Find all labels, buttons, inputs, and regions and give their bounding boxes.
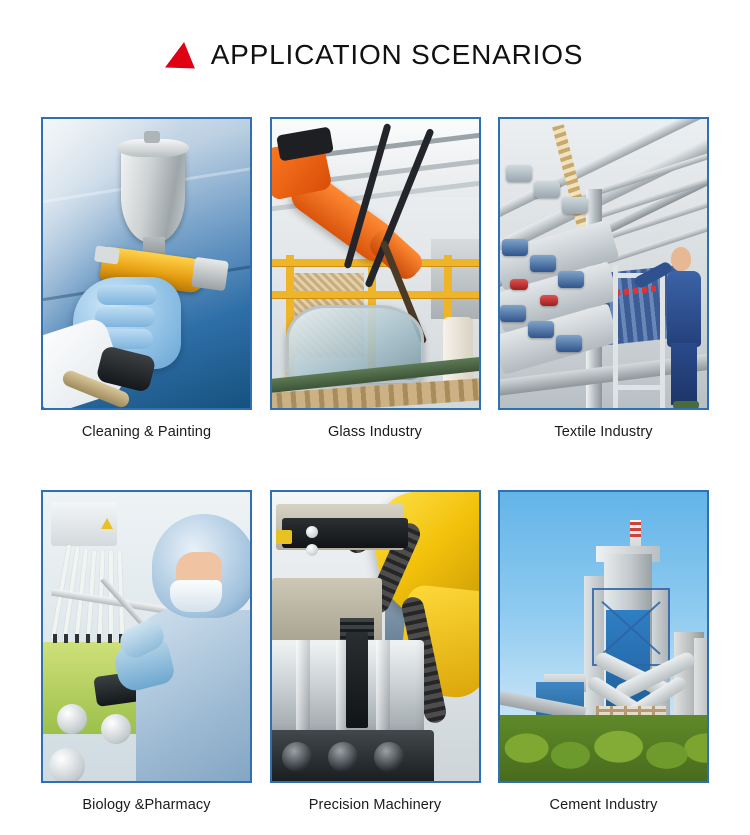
scenario-card-biology-pharmacy[interactable]: Biology &Pharmacy [41, 490, 252, 814]
scenario-caption: Glass Industry [270, 423, 481, 441]
orange-robot-arm-windshield-image [272, 119, 479, 408]
application-scenarios-page: APPLICATION SCENARIOS [0, 0, 750, 835]
scenario-caption: Precision Machinery [270, 796, 481, 814]
red-triangle-icon [165, 41, 199, 68]
scenario-thumbnail[interactable] [270, 117, 481, 410]
scenario-caption: Cement Industry [498, 796, 709, 814]
cement-plant-towers-image [500, 492, 707, 781]
scenario-thumbnail[interactable] [41, 117, 252, 410]
scenario-thumbnail[interactable] [498, 490, 709, 783]
scenario-caption: Biology &Pharmacy [41, 796, 252, 814]
scenario-card-textile-industry[interactable]: Textile Industry [498, 117, 709, 441]
scenario-card-precision-machinery[interactable]: Precision Machinery [270, 490, 481, 814]
page-title: APPLICATION SCENARIOS [211, 38, 584, 72]
scenario-card-cleaning-painting[interactable]: Cleaning & Painting [41, 117, 252, 441]
yellow-robot-arm-engine-block-image [272, 492, 479, 781]
scenario-gallery: Cleaning & Painting [41, 117, 709, 814]
textile-spinning-machine-worker-image [500, 119, 707, 408]
cleanroom-technician-machinery-image [43, 492, 250, 781]
scenario-thumbnail[interactable] [498, 117, 709, 410]
scenario-card-cement-industry[interactable]: Cement Industry [498, 490, 709, 814]
scenario-caption: Textile Industry [498, 423, 709, 441]
spray-gun-painting-car-image [43, 119, 250, 408]
page-header: APPLICATION SCENARIOS [0, 38, 750, 72]
scenario-caption: Cleaning & Painting [41, 423, 252, 441]
gallery-row-2: Biology &Pharmacy [41, 490, 709, 814]
scenario-thumbnail[interactable] [270, 490, 481, 783]
scenario-card-glass-industry[interactable]: Glass Industry [270, 117, 481, 441]
scenario-thumbnail[interactable] [41, 490, 252, 783]
gallery-row-1: Cleaning & Painting [41, 117, 709, 441]
